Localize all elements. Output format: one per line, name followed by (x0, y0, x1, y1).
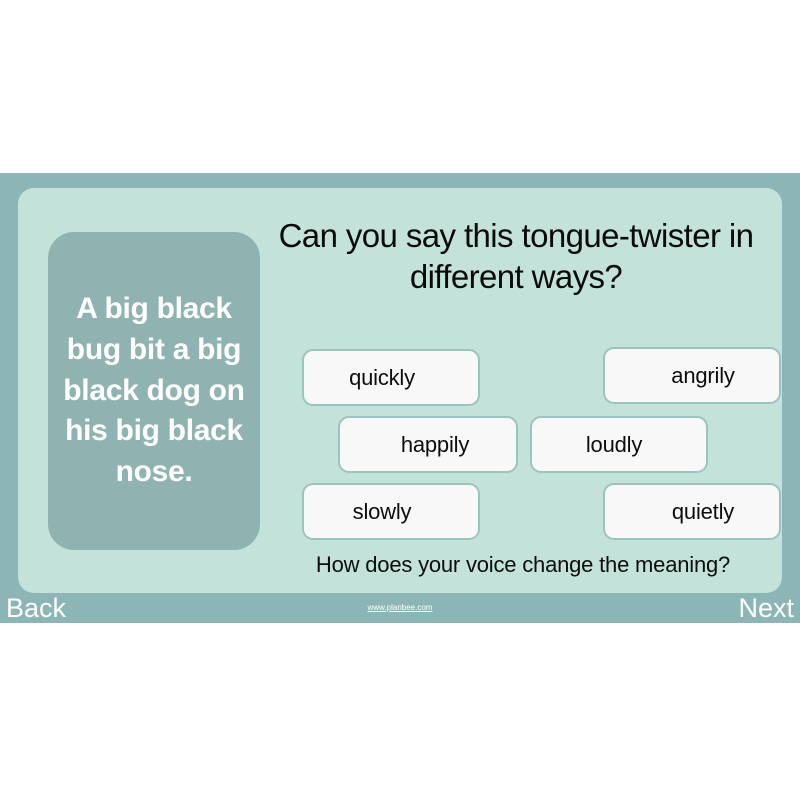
word-option-slowly[interactable]: slowly (302, 483, 480, 540)
slide-content-panel: A big black bug bit a big black dog on h… (18, 188, 782, 593)
activity-heading: Can you say this tongue-twister in diffe… (266, 216, 766, 298)
slide-frame: A big black bug bit a big black dog on h… (0, 173, 800, 623)
reflection-question: How does your voice change the meaning? (266, 552, 780, 578)
slide-canvas: A big black bug bit a big black dog on h… (0, 0, 800, 800)
word-option-label: angrily (605, 363, 779, 389)
word-option-label: quietly (605, 499, 779, 525)
word-option-label: slowly (304, 499, 478, 525)
watermark-link[interactable]: www.planbee.com (0, 603, 800, 612)
activity-column: Can you say this tongue-twister in diffe… (266, 204, 766, 592)
word-option-label: quickly (304, 365, 478, 391)
word-option-angrily[interactable]: angrily (603, 347, 781, 404)
tongue-twister-text: A big black bug bit a big black dog on h… (58, 289, 250, 493)
word-option-quickly[interactable]: quickly (302, 349, 480, 406)
word-option-happily[interactable]: happily (338, 416, 518, 473)
word-option-loudly[interactable]: loudly (530, 416, 708, 473)
word-option-quietly[interactable]: quietly (603, 483, 781, 540)
tongue-twister-card: A big black bug bit a big black dog on h… (48, 232, 260, 550)
word-option-label: happily (340, 432, 516, 458)
word-option-label: loudly (532, 432, 706, 458)
